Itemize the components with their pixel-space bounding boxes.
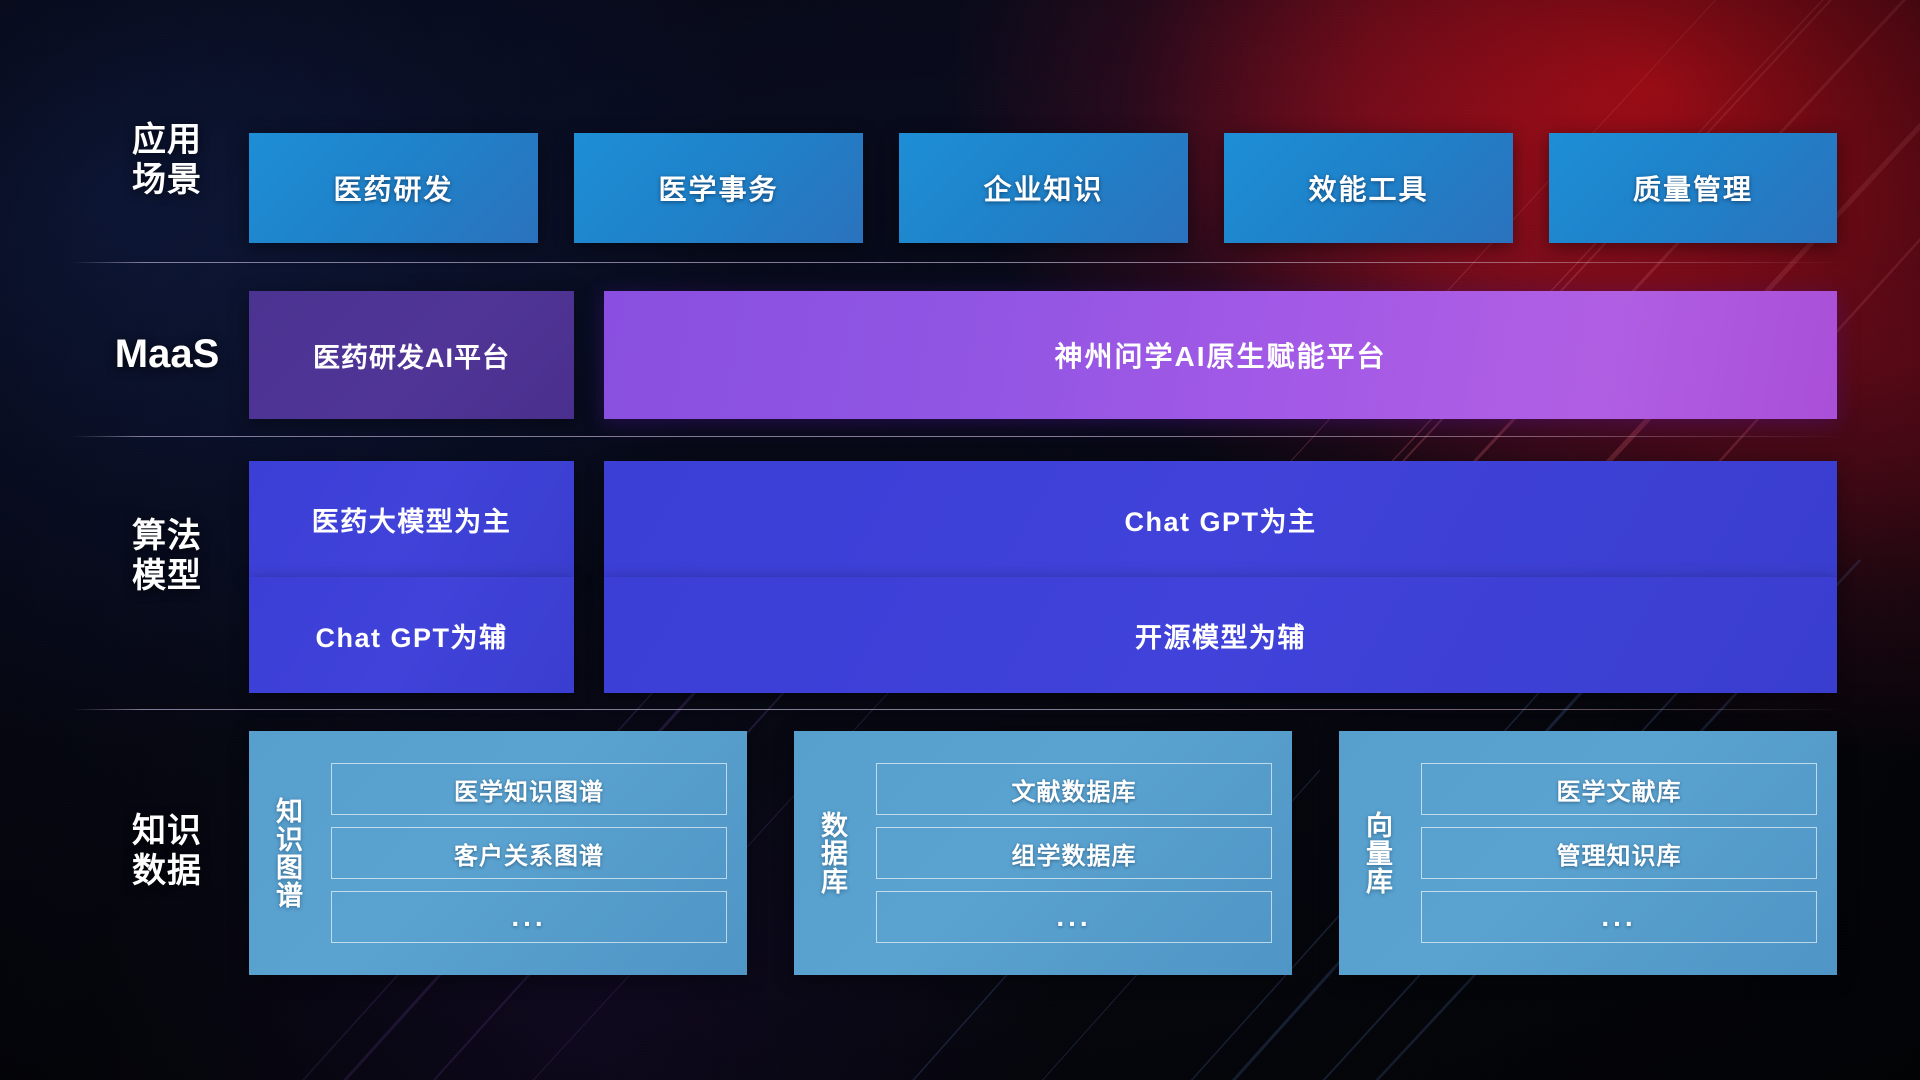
knowledge-item-label: ... — [1601, 901, 1636, 933]
maas-tile-left[interactable]: 医药研发AI平台 — [249, 291, 574, 419]
scenario-tile-label: 效能工具 — [1308, 168, 1428, 208]
divider-scenario-maas — [72, 262, 1848, 263]
row-label-algorithm-model: 算法 模型 — [92, 516, 242, 596]
algorithm-tile-label: Chat GPT为主 — [1124, 500, 1316, 539]
knowledge-group-items: 医学知识图谱 客户关系图谱 ... — [325, 731, 747, 975]
algorithm-tile-label: Chat GPT为辅 — [315, 616, 507, 655]
row-label-application-scenario: 应用 场景 — [92, 120, 242, 200]
scenario-tile-0[interactable]: 医药研发 — [249, 133, 538, 243]
knowledge-item-label: 管理知识库 — [1557, 836, 1682, 871]
scenario-tile-label: 医药研发 — [333, 168, 453, 208]
knowledge-group-title: 数据库 — [794, 731, 870, 975]
divider-maas-algorithm — [72, 436, 1848, 437]
maas-tile-right-label: 神州问学AI原生赋能平台 — [1054, 335, 1386, 375]
algorithm-tile-right-0[interactable]: Chat GPT为主 — [604, 461, 1837, 577]
row-label-line: MaaS — [92, 331, 242, 378]
row-label-line: 应用 — [92, 120, 242, 160]
knowledge-group-items: 医学文献库 管理知识库 ... — [1415, 731, 1837, 975]
row-label-knowledge-data: 知识 数据 — [92, 811, 242, 891]
algorithm-tile-left-0[interactable]: 医药大模型为主 — [249, 461, 574, 577]
maas-tile-left-label: 医药研发AI平台 — [313, 336, 510, 375]
scenario-tile-2[interactable]: 企业知识 — [899, 133, 1188, 243]
row-label-line: 场景 — [92, 160, 242, 200]
algorithm-tile-left-1[interactable]: Chat GPT为辅 — [249, 577, 574, 693]
maas-tile-right[interactable]: 神州问学AI原生赋能平台 — [604, 291, 1837, 419]
knowledge-item-label: 医学知识图谱 — [454, 772, 604, 807]
scenario-tile-4[interactable]: 质量管理 — [1549, 133, 1837, 243]
divider-algorithm-knowledge — [72, 709, 1848, 710]
knowledge-item-label: 医学文献库 — [1557, 772, 1682, 807]
knowledge-item[interactable]: 客户关系图谱 — [331, 827, 727, 879]
row-label-line: 模型 — [92, 556, 242, 596]
knowledge-item-label: 客户关系图谱 — [454, 836, 604, 871]
knowledge-item[interactable]: 组学数据库 — [876, 827, 1272, 879]
scenario-tile-3[interactable]: 效能工具 — [1224, 133, 1513, 243]
knowledge-item[interactable]: 管理知识库 — [1421, 827, 1817, 879]
algorithm-tile-label: 开源模型为辅 — [1135, 616, 1306, 655]
knowledge-group-title: 知识图谱 — [249, 731, 325, 975]
row-label-line: 算法 — [92, 516, 242, 556]
knowledge-group-title: 向量库 — [1339, 731, 1415, 975]
knowledge-item-more[interactable]: ... — [331, 891, 727, 943]
row-label-maas: MaaS — [92, 331, 242, 378]
knowledge-group-0[interactable]: 知识图谱 医学知识图谱 客户关系图谱 ... — [249, 731, 747, 975]
knowledge-item-more[interactable]: ... — [876, 891, 1272, 943]
knowledge-group-2[interactable]: 向量库 医学文献库 管理知识库 ... — [1339, 731, 1837, 975]
knowledge-item[interactable]: 医学文献库 — [1421, 763, 1817, 815]
knowledge-item[interactable]: 文献数据库 — [876, 763, 1272, 815]
row-label-line: 数据 — [92, 851, 242, 891]
scenario-tile-1[interactable]: 医学事务 — [574, 133, 863, 243]
knowledge-item-label: ... — [511, 901, 546, 933]
algorithm-tile-right-1[interactable]: 开源模型为辅 — [604, 577, 1837, 693]
scenario-tile-label: 企业知识 — [983, 168, 1103, 208]
architecture-diagram: 应用 场景 MaaS 算法 模型 知识 数据 医药研发 医学事务 企业知识 效能… — [0, 0, 1920, 1080]
scenario-tile-label: 质量管理 — [1633, 168, 1753, 208]
knowledge-group-items: 文献数据库 组学数据库 ... — [870, 731, 1292, 975]
knowledge-item-label: ... — [1056, 901, 1091, 933]
knowledge-item[interactable]: 医学知识图谱 — [331, 763, 727, 815]
knowledge-item-more[interactable]: ... — [1421, 891, 1817, 943]
knowledge-item-label: 组学数据库 — [1012, 836, 1137, 871]
algorithm-tile-label: 医药大模型为主 — [312, 500, 512, 539]
knowledge-group-1[interactable]: 数据库 文献数据库 组学数据库 ... — [794, 731, 1292, 975]
scenario-tile-label: 医学事务 — [658, 168, 778, 208]
row-label-line: 知识 — [92, 811, 242, 851]
knowledge-item-label: 文献数据库 — [1012, 772, 1137, 807]
